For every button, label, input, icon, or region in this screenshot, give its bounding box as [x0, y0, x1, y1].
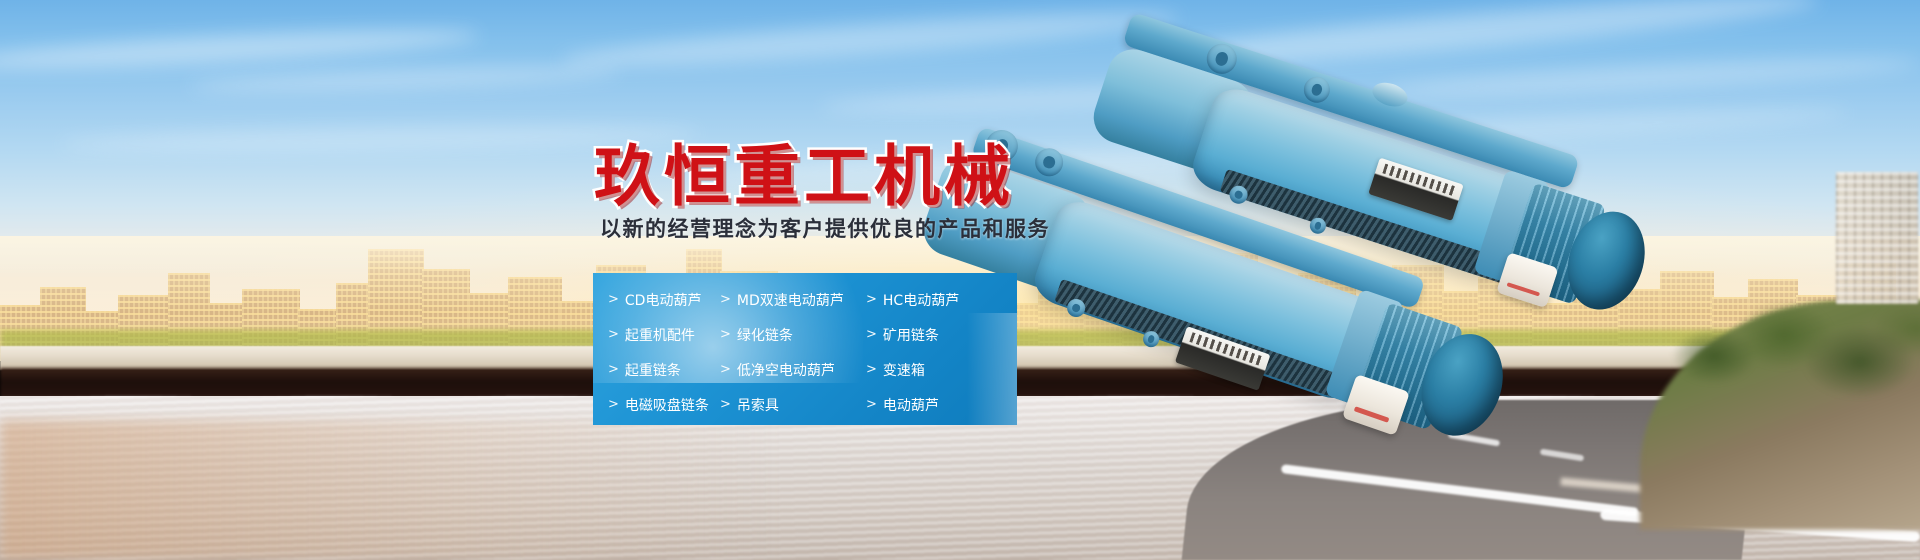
product-link-crane-parts[interactable]: > 起重机配件 [608, 325, 720, 345]
product-link-cd-hoist[interactable]: > CD电动葫芦 [608, 290, 720, 310]
product-link-label: 电磁吸盘链条 [625, 395, 709, 415]
product-link-low-headroom-hoist[interactable]: > 低净空电动葫芦 [720, 360, 866, 380]
chevron-right-icon: > [608, 362, 619, 377]
promo-banner: 玖恒重工机械 以新的经营理念为客户提供优良的产品和服务 > CD电动葫芦 > M… [0, 0, 1920, 560]
product-link-md-dual-speed-hoist[interactable]: > MD双速电动葫芦 [720, 290, 866, 310]
product-link-hc-hoist[interactable]: > HC电动葫芦 [866, 290, 959, 310]
product-links-grid: > CD电动葫芦 > MD双速电动葫芦 > HC电动葫芦 > 起重机配件 [593, 273, 1017, 422]
product-link-gearbox[interactable]: > 变速箱 [866, 360, 925, 380]
product-links-row: > 电磁吸盘链条 > 吊索具 > 电动葫芦 [593, 387, 1017, 422]
product-links-panel: > CD电动葫芦 > MD双速电动葫芦 > HC电动葫芦 > 起重机配件 [593, 273, 1017, 425]
product-links-row: > 起重机配件 > 绿化链条 > 矿用链条 [593, 317, 1017, 352]
banner-subtitle: 以新的经营理念为客户提供优良的产品和服务 [600, 213, 1050, 243]
product-link-lifting-chain[interactable]: > 起重链条 [608, 360, 720, 380]
product-link-magnetic-chuck-chain[interactable]: > 电磁吸盘链条 [608, 395, 720, 415]
chevron-right-icon: > [866, 292, 877, 307]
chevron-right-icon: > [866, 362, 877, 377]
road-warm-tint [0, 420, 780, 560]
page-title: 玖恒重工机械 [594, 123, 1014, 219]
chevron-right-icon: > [608, 292, 619, 307]
chevron-right-icon: > [866, 397, 877, 412]
product-link-greening-chain[interactable]: > 绿化链条 [720, 325, 866, 345]
product-link-slings[interactable]: > 吊索具 [720, 395, 866, 415]
product-link-label: CD电动葫芦 [625, 290, 702, 310]
chevron-right-icon: > [608, 327, 619, 342]
product-link-label: 变速箱 [883, 360, 925, 380]
chevron-right-icon: > [720, 397, 731, 412]
product-link-label: 吊索具 [737, 395, 779, 415]
chevron-right-icon: > [720, 327, 731, 342]
chevron-right-icon: > [720, 292, 731, 307]
product-link-label: 低净空电动葫芦 [737, 360, 835, 380]
product-links-row: > 起重链条 > 低净空电动葫芦 > 变速箱 [593, 352, 1017, 387]
product-link-label: 起重链条 [625, 360, 681, 380]
product-link-label: 电动葫芦 [883, 395, 939, 415]
product-link-label: 起重机配件 [625, 325, 695, 345]
product-link-mining-chain[interactable]: > 矿用链条 [866, 325, 939, 345]
chevron-right-icon: > [720, 362, 731, 377]
product-links-row: > CD电动葫芦 > MD双速电动葫芦 > HC电动葫芦 [593, 282, 1017, 317]
product-link-label: 矿用链条 [883, 325, 939, 345]
background-tower [1836, 172, 1918, 304]
product-link-label: 绿化链条 [737, 325, 793, 345]
product-link-electric-hoist[interactable]: > 电动葫芦 [866, 395, 939, 415]
chevron-right-icon: > [866, 327, 877, 342]
product-link-label: MD双速电动葫芦 [737, 290, 844, 310]
hillside-vegetation [1660, 296, 1920, 446]
product-link-label: HC电动葫芦 [883, 290, 959, 310]
chevron-right-icon: > [608, 397, 619, 412]
